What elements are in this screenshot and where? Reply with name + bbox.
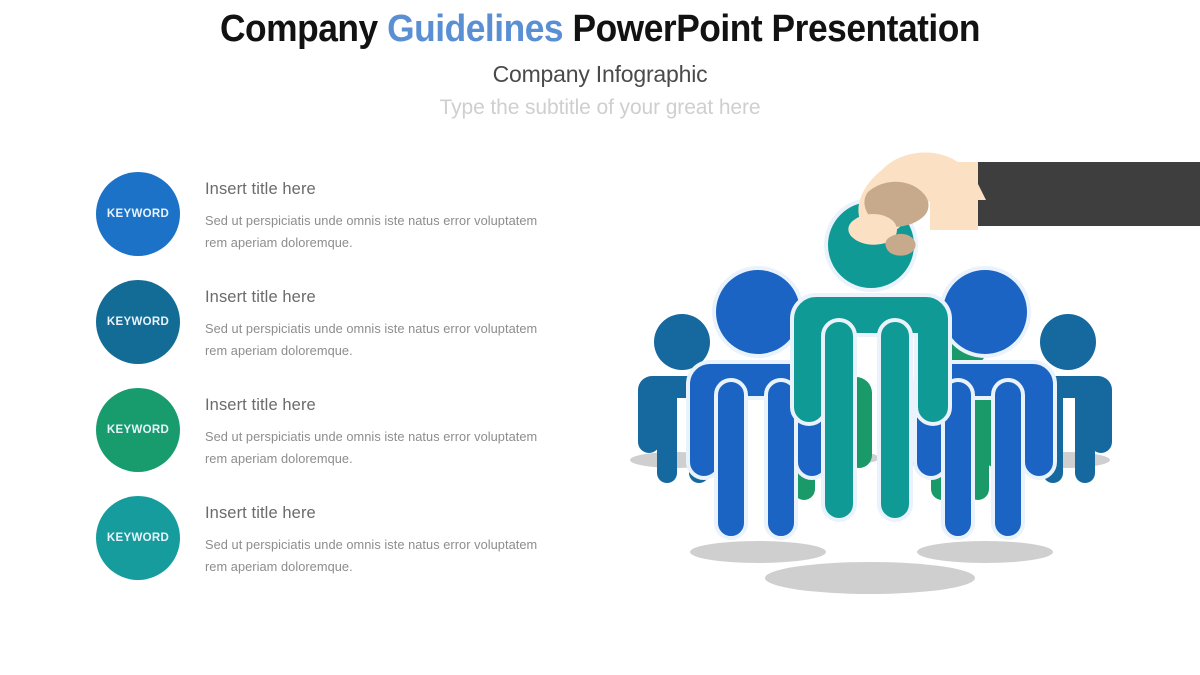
page-title-part2: PowerPoint Presentation <box>563 8 980 50</box>
list-item-description: Sed ut perspiciatis unde omnis iste natu… <box>205 307 555 362</box>
list-item-title: Insert title here <box>205 180 555 199</box>
list-item-description: Sed ut perspiciatis unde omnis iste natu… <box>205 199 555 254</box>
subtitle: Company Infographic <box>0 51 1200 88</box>
list-item-text: Insert title here Sed ut perspiciatis un… <box>205 396 555 470</box>
page-title-accent: Guidelines <box>387 8 563 50</box>
keyword-list: KEYWORD Insert title here Sed ut perspic… <box>96 172 566 604</box>
keyword-label: KEYWORD <box>107 532 169 544</box>
list-item-title: Insert title here <box>205 504 555 523</box>
sleeve <box>974 162 1200 226</box>
list-item-title: Insert title here <box>205 396 555 415</box>
slide-header: Company Guidelines PowerPoint Presentati… <box>0 0 1200 120</box>
shadow-ellipse <box>690 541 826 563</box>
list-item-text: Insert title here Sed ut perspiciatis un… <box>205 288 555 362</box>
list-item-text: Insert title here Sed ut perspiciatis un… <box>205 504 555 578</box>
list-item[interactable]: KEYWORD Insert title here Sed ut perspic… <box>96 172 566 280</box>
shadow-ellipse <box>917 541 1053 563</box>
keyword-circle-4[interactable]: KEYWORD <box>96 496 180 580</box>
list-item-description: Sed ut perspiciatis unde omnis iste natu… <box>205 523 555 578</box>
page-title-part1: Company <box>220 8 387 50</box>
shadow-ellipse-lifted <box>765 562 975 594</box>
keyword-circle-1[interactable]: KEYWORD <box>96 172 180 256</box>
keyword-circle-2[interactable]: KEYWORD <box>96 280 180 364</box>
keyword-label: KEYWORD <box>107 424 169 436</box>
list-item-text: Insert title here Sed ut perspiciatis un… <box>205 180 555 254</box>
list-item[interactable]: KEYWORD Insert title here Sed ut perspic… <box>96 388 566 496</box>
list-item[interactable]: KEYWORD Insert title here Sed ut perspic… <box>96 280 566 388</box>
keyword-label: KEYWORD <box>107 316 169 328</box>
page-title: Company Guidelines PowerPoint Presentati… <box>42 0 1158 51</box>
subtitle-placeholder: Type the subtitle of your great here <box>0 88 1200 120</box>
list-item-title: Insert title here <box>205 288 555 307</box>
list-item-description: Sed ut perspiciatis unde omnis iste natu… <box>205 415 555 470</box>
list-item[interactable]: KEYWORD Insert title here Sed ut perspic… <box>96 496 566 604</box>
keyword-circle-3[interactable]: KEYWORD <box>96 388 180 472</box>
keyword-label: KEYWORD <box>107 208 169 220</box>
crowd-selection-illustration <box>630 140 1200 610</box>
